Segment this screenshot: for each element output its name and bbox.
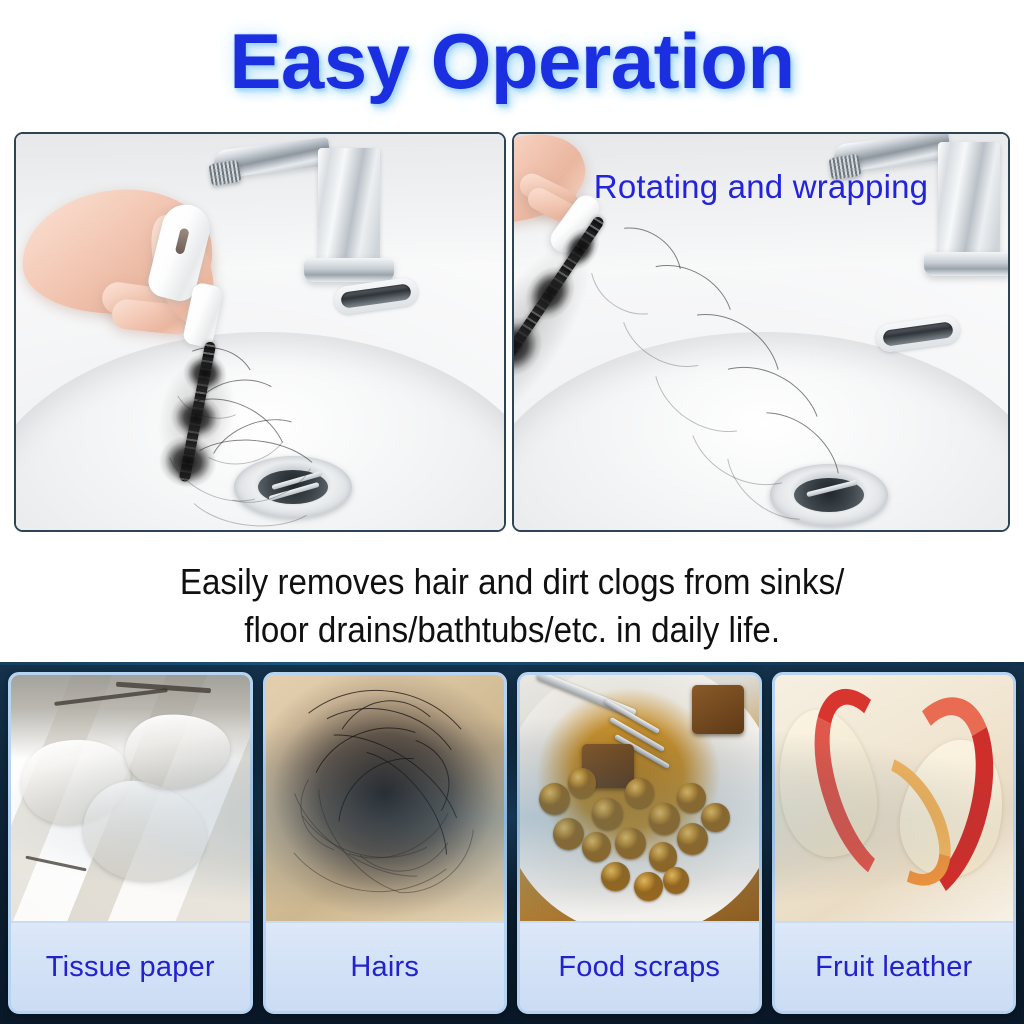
bean: [568, 768, 597, 798]
clog-card-label: Hairs: [266, 923, 505, 1011]
bean: [677, 823, 708, 855]
tissue-paper-photo: [11, 675, 250, 923]
clog-card-fruit-leather[interactable]: Fruit leather: [772, 672, 1017, 1014]
panel-step-two[interactable]: Rotating and wrapping: [512, 132, 1010, 532]
faucet-base: [304, 258, 394, 282]
bean: [677, 783, 706, 813]
faucet-base: [924, 252, 1008, 276]
demo-panels: Rotating and wrapping: [0, 132, 1024, 532]
clog-card-label: Food scraps: [520, 923, 759, 1011]
bean: [625, 778, 654, 808]
food-scraps-photo: [520, 675, 759, 923]
page-title: Easy Operation: [229, 22, 794, 100]
description-block: Easily removes hair and dirt clogs from …: [0, 552, 1024, 660]
description-line-2: floor drains/bathtubs/etc. in daily life…: [244, 606, 780, 654]
clog-card-tissue-paper[interactable]: Tissue paper: [8, 672, 253, 1014]
clog-card-food-scraps[interactable]: Food scraps: [517, 672, 762, 1014]
bean: [553, 818, 584, 850]
description-line-1: Easily removes hair and dirt clogs from …: [180, 558, 844, 606]
panel-step-one[interactable]: [14, 132, 506, 532]
sink-scene-right: Rotating and wrapping: [514, 134, 1008, 530]
clog-card-hairs[interactable]: Hairs: [263, 672, 508, 1014]
overflow-slot: [874, 314, 961, 353]
bean: [649, 803, 680, 835]
hairs-photo: [266, 675, 505, 923]
clog-card-label: Tissue paper: [11, 923, 250, 1011]
handle-hang-hole: [175, 228, 190, 255]
hair-clump-drain: [16, 134, 94, 204]
bean: [601, 862, 630, 892]
clog-types-list: Tissue paper Hairs: [0, 662, 1024, 1024]
overflow-slot: [332, 276, 419, 315]
bean: [582, 832, 611, 862]
sink-scene-left: [16, 134, 504, 530]
clog-types-strip: Tissue paper Hairs: [0, 662, 1024, 1024]
meat-chunk: [692, 685, 744, 734]
faucet-aerator: [208, 160, 241, 186]
bean: [663, 867, 689, 894]
faucet-body: [318, 148, 380, 266]
clog-card-label: Fruit leather: [775, 923, 1014, 1011]
debris: [26, 856, 87, 872]
bean: [701, 803, 730, 833]
bean: [592, 798, 623, 830]
headline-band: Easy Operation: [0, 0, 1024, 122]
fruit-leather-photo: [775, 675, 1014, 923]
panel-caption: Rotating and wrapping: [514, 168, 1008, 206]
